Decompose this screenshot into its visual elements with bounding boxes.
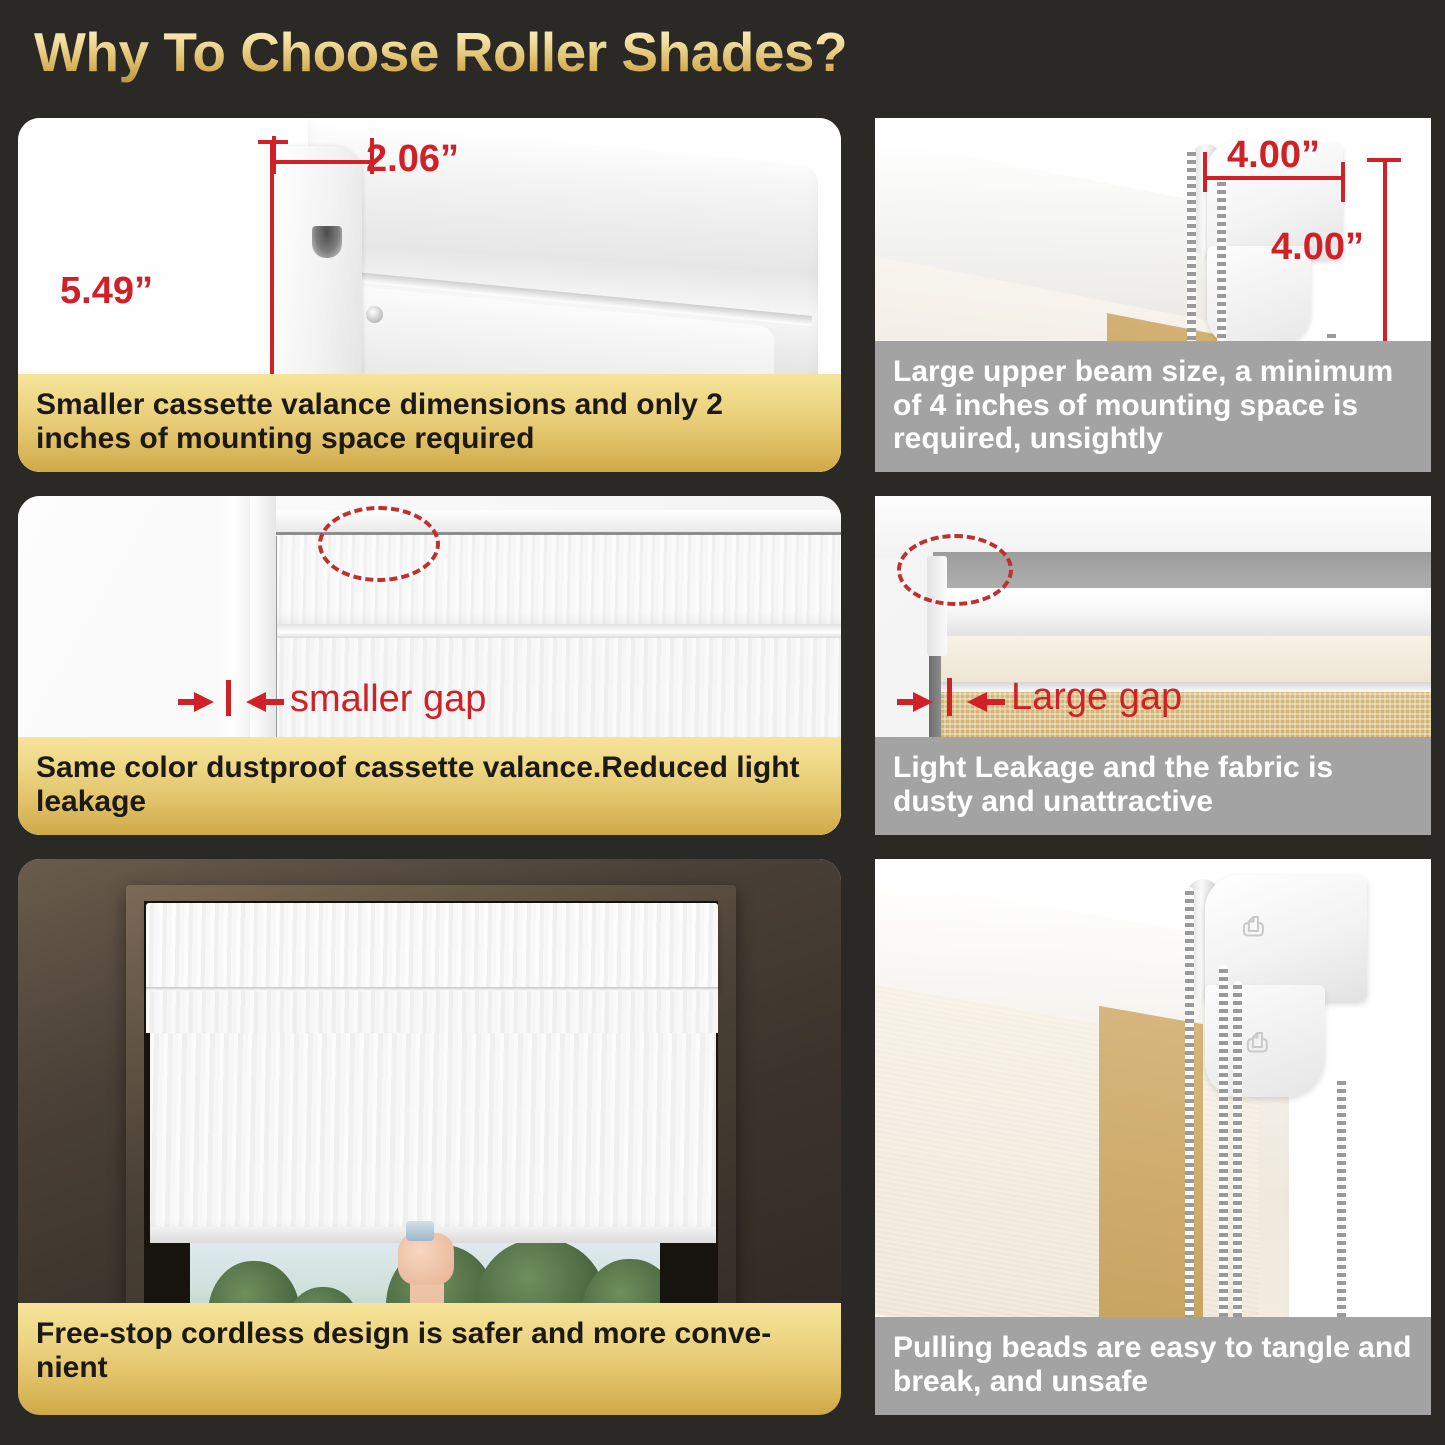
- pull-tab: [406, 1221, 434, 1241]
- panel-large-upper-beam: 4.00” 4.00” Large upper beam size, a min…: [875, 118, 1431, 472]
- panel-6-caption: Pulling beads are easy to tangle and bre…: [875, 1317, 1431, 1415]
- panel-cassette-dimensions: 2.06” 5.49” Smaller cassette valance dim…: [18, 118, 841, 472]
- seam-highlight-ring: [318, 506, 440, 582]
- valance-lower: [146, 991, 718, 1033]
- bracket-highlight-ring: [897, 534, 1013, 606]
- gap-arrow-left-stem: [178, 699, 198, 705]
- gap-arrow-left-stem: [897, 699, 917, 705]
- shade-fabric: [150, 1033, 716, 1233]
- panel-light-leakage: Large gap Light Leakage and the fabric i…: [875, 496, 1431, 835]
- beam-height-tick-top: [1367, 158, 1401, 162]
- beam-width-tick-right: [1341, 162, 1345, 202]
- width-dimension-label: 2.06”: [366, 138, 459, 181]
- bead-chain-left: [1185, 887, 1194, 1335]
- gap-arrow-right: [967, 692, 987, 712]
- bracket-icon-lower: ⎙: [1247, 1027, 1268, 1059]
- end-cap-screw: [366, 306, 383, 323]
- page-title: Why To Choose Roller Shades?: [34, 20, 847, 84]
- beam-height-label: 4.00”: [1271, 226, 1364, 269]
- comparison-grid: 2.06” 5.49” Smaller cassette valance dim…: [0, 104, 1445, 1445]
- large-gap-label: Large gap: [1011, 676, 1182, 719]
- gap-marker-bar: [947, 678, 952, 716]
- panel-4-caption: Light Leakage and the fabric is dusty an…: [875, 737, 1431, 835]
- panel-5-caption-line1: Free-stop cordless design is safer and m…: [36, 1317, 771, 1350]
- gap-arrow-right-stem: [985, 699, 1005, 705]
- panel-5-caption-line2: nient: [36, 1351, 108, 1384]
- panel-1-caption: Smaller cassette valance dimensions and …: [18, 374, 841, 472]
- height-dimension-label: 5.49”: [60, 270, 153, 313]
- valance-lip: [274, 624, 841, 638]
- bracket-icon-upper: ⎙: [1243, 911, 1264, 943]
- page-header: Why To Choose Roller Shades?: [0, 0, 1445, 104]
- panel-5-caption: Free-stop cordless design is safer and m…: [18, 1303, 841, 1415]
- panel-2-caption: Large upper beam size, a minimum of 4 in…: [875, 341, 1431, 472]
- end-cap-slot: [312, 226, 342, 258]
- mounting-bracket-upper: [1205, 875, 1367, 1001]
- beam-height-dim-line: [1383, 158, 1387, 370]
- gap-arrow-right: [246, 692, 266, 712]
- width-dim-line: [274, 160, 374, 164]
- bead-chain-right: [1337, 1077, 1346, 1337]
- bead-chain-mid: [1219, 965, 1228, 1337]
- beam-width-label: 4.00”: [1227, 134, 1320, 177]
- beam-width-tick-left: [1203, 152, 1207, 192]
- height-dim-tick-top: [258, 140, 288, 144]
- gap-marker-bar: [226, 680, 231, 716]
- gap-arrow-right-stem: [264, 699, 284, 705]
- panel-pulling-beads: ⎙ ⎙ Pulling beads are easy to tangle and…: [875, 859, 1431, 1415]
- cassette-valance: [146, 903, 718, 989]
- panel-cordless-design: Free-stop cordless design is safer and m…: [18, 859, 841, 1415]
- smaller-gap-label: smaller gap: [290, 678, 486, 721]
- bead-chain-mid2: [1233, 981, 1242, 1337]
- panel-3-caption: Same color dustproof cassette valance.Re…: [18, 737, 841, 835]
- panel-dustproof-valance: smaller gap Same color dustproof cassett…: [18, 496, 841, 835]
